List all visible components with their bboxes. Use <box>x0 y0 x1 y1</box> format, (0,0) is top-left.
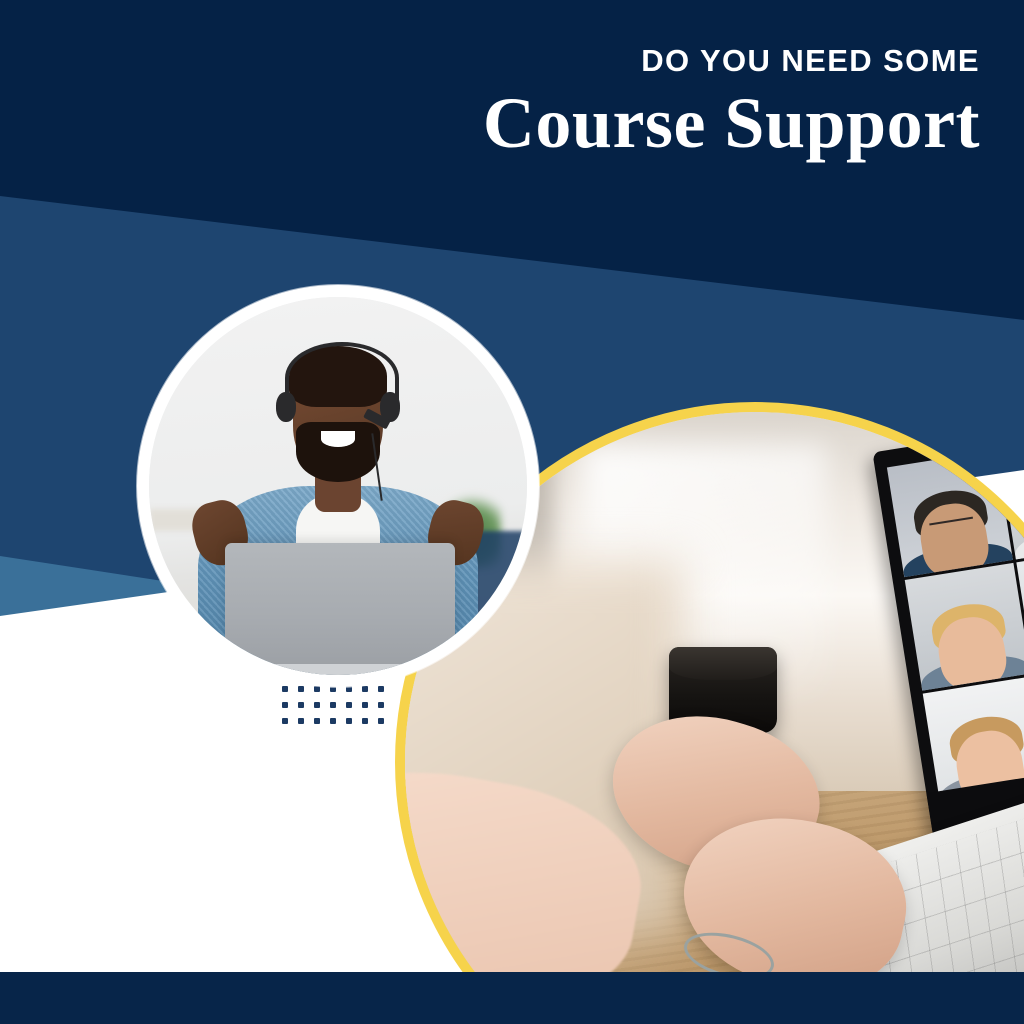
dot <box>314 702 320 708</box>
dot <box>282 686 288 692</box>
dot <box>362 686 368 692</box>
heading-block: DO YOU NEED SOME Course Support <box>340 44 980 162</box>
dot <box>330 718 336 724</box>
dot <box>314 686 320 692</box>
dot <box>378 686 384 692</box>
dot <box>298 702 304 708</box>
page-title: Course Support <box>340 86 980 162</box>
headset-earcup-left <box>276 392 297 422</box>
support-agent-photo-circle <box>137 285 539 687</box>
laptop-screen <box>873 415 1024 863</box>
dot <box>378 718 384 724</box>
video-tile[interactable] <box>887 450 1013 577</box>
dot <box>298 718 304 724</box>
support-agent <box>149 297 527 675</box>
participant-body <box>1013 521 1024 560</box>
poster-canvas: DO YOU NEED SOME Course Support <box>0 0 1024 1024</box>
bottom-bar <box>0 972 1024 1024</box>
dot <box>362 718 368 724</box>
dot <box>346 686 352 692</box>
dot <box>314 718 320 724</box>
dot <box>378 702 384 708</box>
dot <box>330 702 336 708</box>
laptop <box>225 543 456 679</box>
video-tile[interactable] <box>905 563 1024 690</box>
dot <box>298 686 304 692</box>
dot <box>362 702 368 708</box>
dot <box>282 702 288 708</box>
dot <box>282 718 288 724</box>
video-call-grid <box>887 432 1024 803</box>
dot <box>346 718 352 724</box>
dot <box>346 702 352 708</box>
smile <box>321 431 355 447</box>
kicker-text: DO YOU NEED SOME <box>340 44 980 78</box>
